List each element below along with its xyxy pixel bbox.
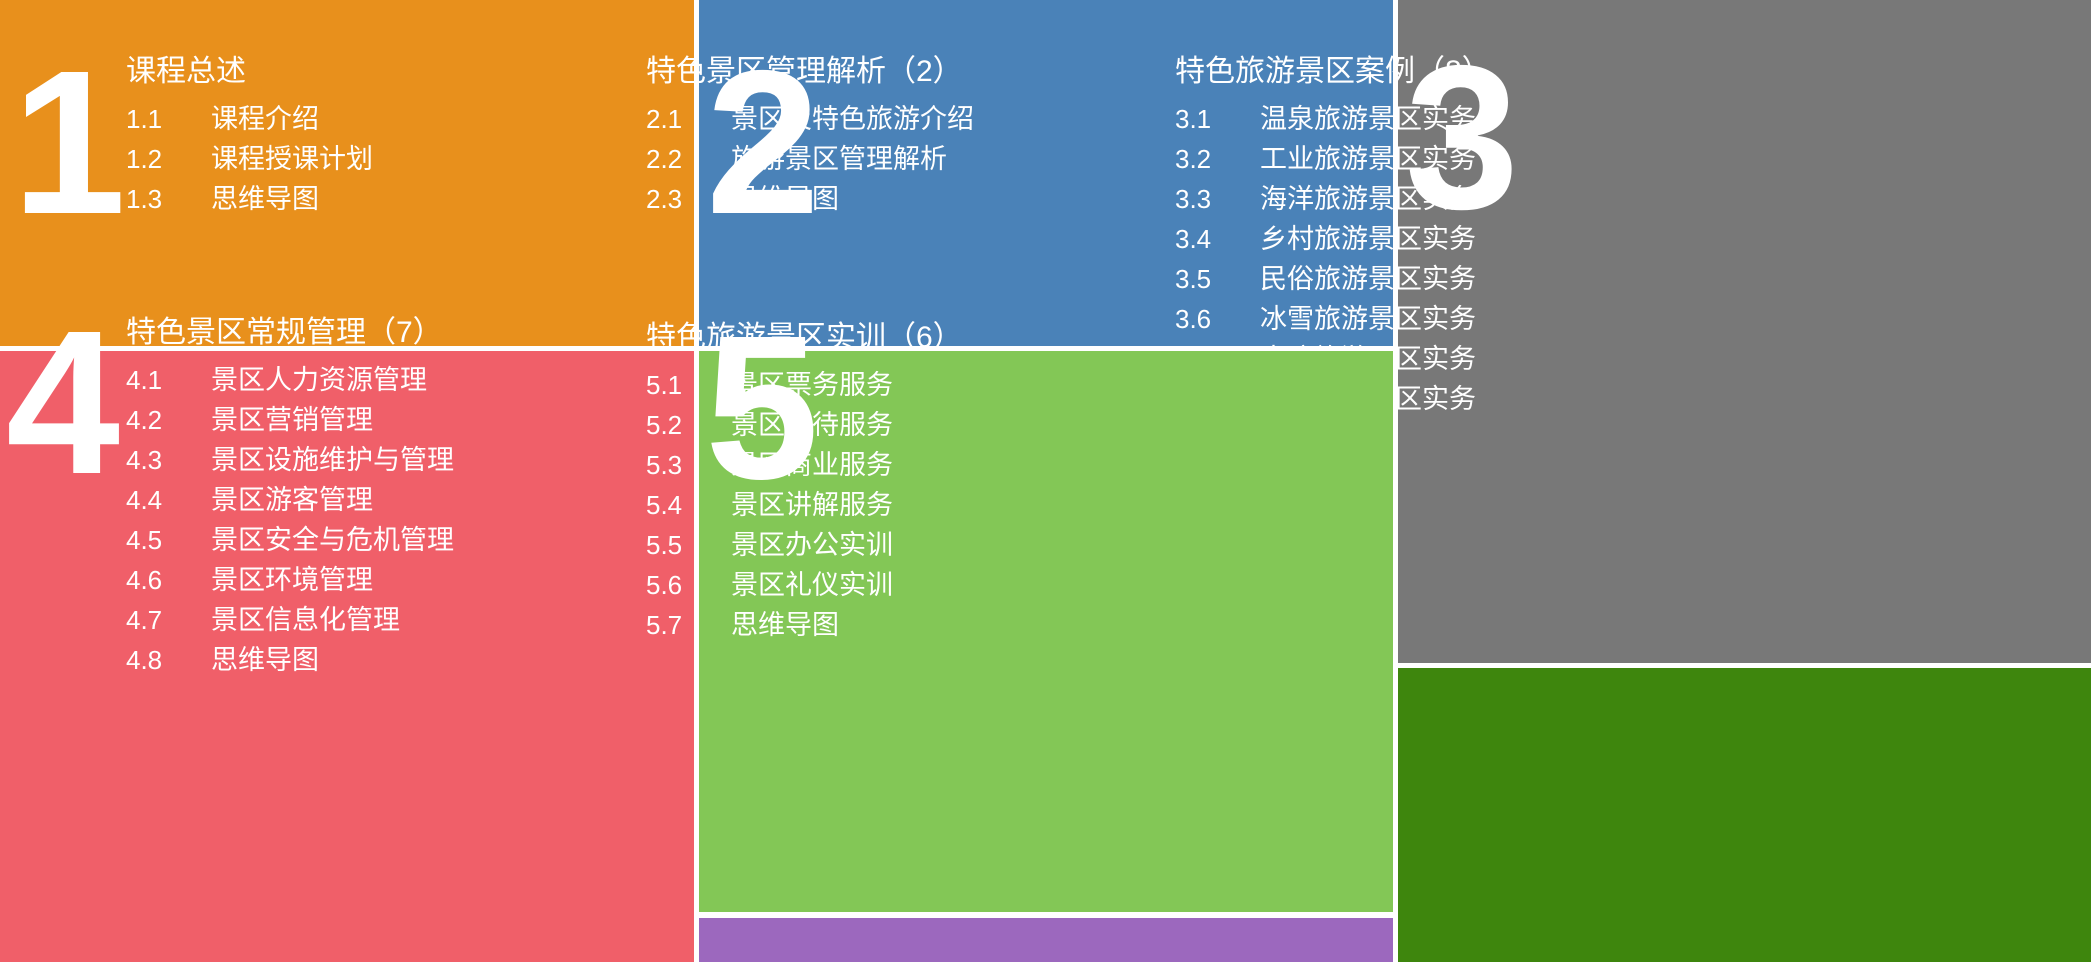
list-item[interactable]: 5.5 景区办公实训 — [646, 532, 963, 559]
item-number: 3.6 — [1175, 306, 1260, 332]
item-number: 4.4 — [126, 487, 211, 513]
item-number: 2.3 — [646, 186, 731, 212]
panel-4-content: 特色景区常规管理（7） 4.1 景区人力资源管理 4.2 景区营销管理 4.3 … — [126, 318, 454, 687]
item-number: 5.2 — [646, 412, 731, 438]
item-number: 2.1 — [646, 106, 731, 132]
item-number: 4.8 — [126, 647, 211, 673]
list-item[interactable]: 1.1 课程介绍 — [126, 106, 373, 133]
item-label: 工业旅游景区实务 — [1260, 146, 1476, 173]
list-item[interactable]: 3.6 冰雪旅游景区实务 — [1175, 306, 1492, 333]
item-number: 4.5 — [126, 527, 211, 553]
item-number: 5.1 — [646, 372, 731, 398]
list-item[interactable]: 4.7 景区信息化管理 — [126, 607, 454, 634]
item-label: 景区营销管理 — [211, 407, 373, 434]
item-number: 4.3 — [126, 447, 211, 473]
panel-5-content: 特色旅游景区实训（6） 5.1 景区票务服务 5.2 景区接待服务 5.3 景区… — [646, 323, 963, 652]
item-label: 景区讲解服务 — [731, 492, 893, 519]
panel-section-dark-green-block[interactable] — [1398, 668, 2091, 962]
panel-4-big-number: 4 — [6, 300, 116, 505]
list-item[interactable]: 5.1 景区票务服务 — [646, 372, 963, 399]
list-item[interactable]: 5.6 景区礼仪实训 — [646, 572, 963, 599]
list-item[interactable]: 4.8 思维导图 — [126, 647, 454, 674]
item-number: 1.2 — [126, 146, 211, 172]
item-label: 景区票务服务 — [731, 372, 893, 399]
item-number: 5.4 — [646, 492, 731, 518]
item-label: 冰雪旅游景区实务 — [1260, 306, 1476, 333]
item-label: 思维导图 — [731, 612, 839, 639]
panel-4-title: 特色景区常规管理（7） — [126, 318, 454, 348]
item-number: 4.6 — [126, 567, 211, 593]
item-number: 3.5 — [1175, 266, 1260, 292]
list-item[interactable]: 3.3 海洋旅游景区实务 — [1175, 186, 1492, 213]
list-item[interactable]: 4.3 景区设施维护与管理 — [126, 447, 454, 474]
item-label: 思维导图 — [731, 186, 839, 213]
item-number: 2.2 — [646, 146, 731, 172]
item-label: 景区人力资源管理 — [211, 367, 427, 394]
list-item[interactable]: 5.4 景区讲解服务 — [646, 492, 963, 519]
list-item[interactable]: 3.2 工业旅游景区实务 — [1175, 146, 1492, 173]
list-item[interactable]: 3.1 温泉旅游景区实务 — [1175, 106, 1492, 133]
list-item[interactable]: 5.3 景区商业服务 — [646, 452, 963, 479]
item-number: 1.3 — [126, 186, 211, 212]
item-label: 景区办公实训 — [731, 532, 893, 559]
panel-5-title: 特色旅游景区实训（6） — [646, 323, 963, 353]
item-label: 景区信息化管理 — [211, 607, 400, 634]
item-number: 4.7 — [126, 607, 211, 633]
item-label: 课程介绍 — [211, 106, 319, 133]
item-number: 5.5 — [646, 532, 731, 558]
list-item[interactable]: 3.4 乡村旅游景区实务 — [1175, 226, 1492, 253]
outline-slide: 1 课程总述 1.1 课程介绍 1.2 课程授课计划 1.3 思维导图 2 特色… — [0, 0, 2091, 962]
item-label: 思维导图 — [211, 647, 319, 674]
panel-section-purple-strip[interactable] — [699, 918, 1393, 962]
item-number: 3.2 — [1175, 146, 1260, 172]
item-label: 课程授课计划 — [211, 146, 373, 173]
panel-2-content: 特色景区管理解析（2） 2.1 景区及特色旅游介绍 2.2 旅游景区管理解析 2… — [646, 57, 974, 226]
item-label: 乡村旅游景区实务 — [1260, 226, 1476, 253]
item-label: 景区环境管理 — [211, 567, 373, 594]
panel-2-title: 特色景区管理解析（2） — [646, 57, 974, 87]
item-number: 5.6 — [646, 572, 731, 598]
list-item[interactable]: 3.5 民俗旅游景区实务 — [1175, 266, 1492, 293]
list-item[interactable]: 1.3 思维导图 — [126, 186, 373, 213]
item-label: 思维导图 — [211, 186, 319, 213]
item-label: 景区游客管理 — [211, 487, 373, 514]
item-label: 温泉旅游景区实务 — [1260, 106, 1476, 133]
panel-1-big-number: 1 — [12, 40, 122, 245]
list-item[interactable]: 2.1 景区及特色旅游介绍 — [646, 106, 974, 133]
item-label: 海洋旅游景区实务 — [1260, 186, 1476, 213]
list-item[interactable]: 5.2 景区接待服务 — [646, 412, 963, 439]
list-item[interactable]: 4.2 景区营销管理 — [126, 407, 454, 434]
item-label: 景区接待服务 — [731, 412, 893, 439]
item-number: 3.4 — [1175, 226, 1260, 252]
item-number: 3.1 — [1175, 106, 1260, 132]
list-item[interactable]: 2.2 旅游景区管理解析 — [646, 146, 974, 173]
item-number: 3.3 — [1175, 186, 1260, 212]
list-item[interactable]: 2.3 思维导图 — [646, 186, 974, 213]
list-item[interactable]: 4.5 景区安全与危机管理 — [126, 527, 454, 554]
item-number: 4.1 — [126, 367, 211, 393]
item-label: 景区设施维护与管理 — [211, 447, 454, 474]
item-number: 5.7 — [646, 612, 731, 638]
item-number: 4.2 — [126, 407, 211, 433]
item-label: 景区及特色旅游介绍 — [731, 106, 974, 133]
item-label: 景区礼仪实训 — [731, 572, 893, 599]
item-label: 民俗旅游景区实务 — [1260, 266, 1476, 293]
item-label: 旅游景区管理解析 — [731, 146, 947, 173]
panel-3-title: 特色旅游景区案例（8） — [1175, 57, 1492, 87]
item-label: 景区安全与危机管理 — [211, 527, 454, 554]
list-item[interactable]: 4.6 景区环境管理 — [126, 567, 454, 594]
list-item[interactable]: 4.1 景区人力资源管理 — [126, 367, 454, 394]
item-number: 1.1 — [126, 106, 211, 132]
list-item[interactable]: 5.7 思维导图 — [646, 612, 963, 639]
panel-1-content: 课程总述 1.1 课程介绍 1.2 课程授课计划 1.3 思维导图 — [126, 57, 373, 226]
panel-1-title: 课程总述 — [126, 57, 373, 87]
item-number: 5.3 — [646, 452, 731, 478]
list-item[interactable]: 4.4 景区游客管理 — [126, 487, 454, 514]
list-item[interactable]: 1.2 课程授课计划 — [126, 146, 373, 173]
item-label: 景区商业服务 — [731, 452, 893, 479]
